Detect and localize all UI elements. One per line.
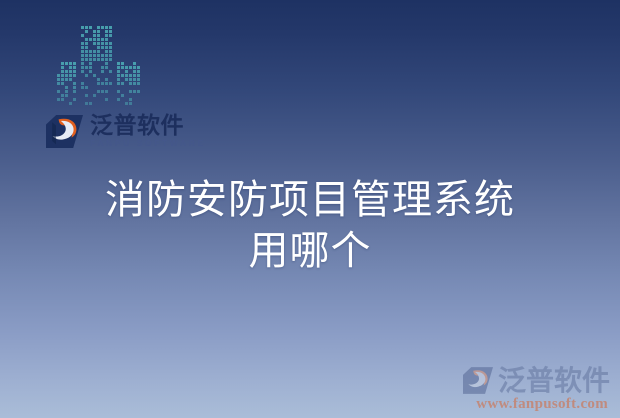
fanpu-watermark: 泛普软件 www.fanpusoft.com [410,366,610,413]
slide-title: 消防安防项目管理系统 用哪个 [0,174,620,276]
watermark-logo-row: 泛普软件 [410,366,610,395]
watermark-url: www.fanpusoft.com [410,396,610,413]
watermark-chinese: 泛普软件 [498,366,610,395]
fanpu-logo-wordmark: 泛普软件 FANPU SOFTWARE [90,113,206,149]
fanpu-software-logo: 泛普软件 FANPU SOFTWARE [46,112,206,150]
slide-title-line-2: 用哪个 [0,225,620,276]
fanpu-logo-chinese: 泛普软件 [90,113,206,137]
slide-title-line-1: 消防安防项目管理系统 [0,174,620,225]
fanpu-logo-english: FANPU SOFTWARE [90,138,206,149]
slide-canvas: 泛普软件 FANPU SOFTWARE 消防安防项目管理系统 用哪个 泛普软件 … [0,0,620,418]
pixel-skyline-graphic [57,26,157,106]
fanpu-logo-mark-icon [46,115,83,148]
fanpu-watermark-mark-icon [463,367,493,394]
